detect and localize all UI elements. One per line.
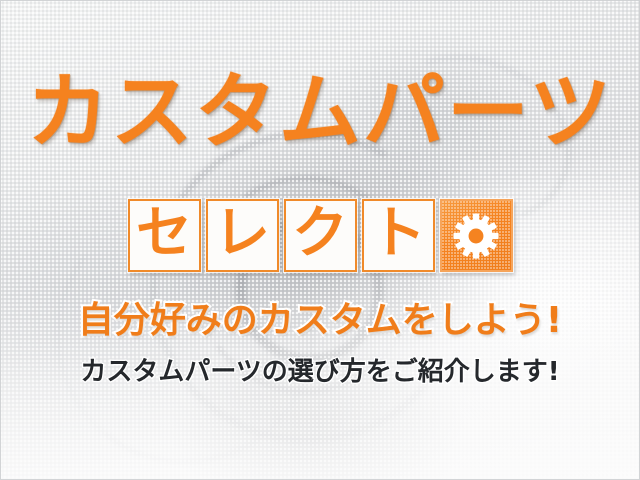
page-title: カスタムパーツ [0,72,640,154]
tile-se-label: セ [136,206,192,262]
tile-ku: ク [284,199,357,272]
slide-content: カスタムパーツ セ レ ク ト [0,0,640,480]
subtitle: 自分好みのカスタムをしよう! [0,303,640,339]
slide-canvas: カスタムパーツ セ レ ク ト [0,0,640,480]
gear-icon [452,212,500,260]
tile-to-label: ト [370,206,426,262]
select-tiles-row: セ レ ク ト [0,199,640,272]
tile-re-label: レ [214,206,270,262]
tile-se: セ [128,199,201,272]
tile-ku-label: ク [292,206,348,262]
tile-gear [440,199,513,272]
caption: カスタムパーツの選び方をご紹介します! [0,359,640,385]
tile-to: ト [362,199,435,272]
tile-re: レ [206,199,279,272]
